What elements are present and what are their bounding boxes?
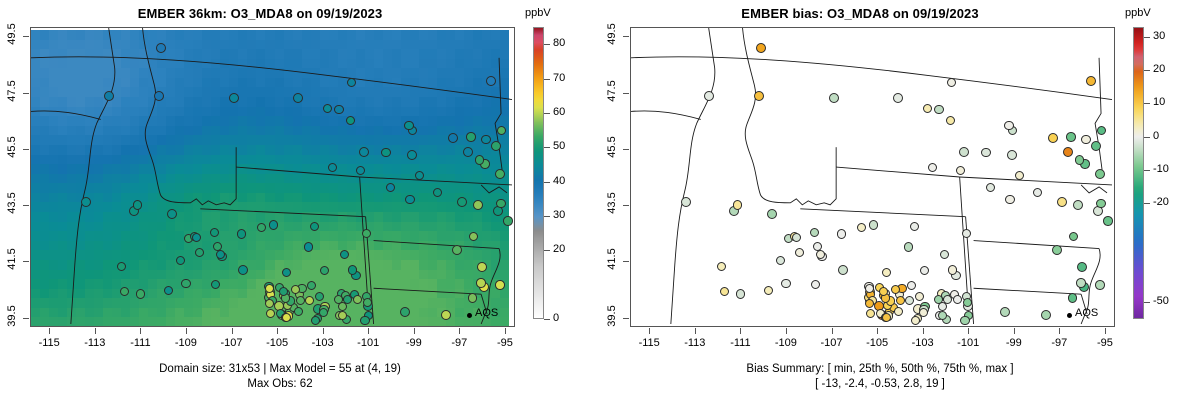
observation-marker xyxy=(229,93,239,103)
colorbar-tick-mark xyxy=(544,79,550,80)
observation-marker xyxy=(293,93,303,103)
observation-marker xyxy=(986,183,995,192)
observation-marker xyxy=(736,289,745,298)
observation-marker xyxy=(441,310,451,320)
observation-marker xyxy=(781,279,790,288)
y-tick-mark xyxy=(23,149,29,150)
observation-marker xyxy=(348,265,357,274)
observation-marker xyxy=(923,104,932,113)
x-tick-label: -113 xyxy=(673,337,717,349)
observation-marker xyxy=(911,316,920,325)
observation-marker xyxy=(934,105,943,114)
aqs-legend-label: AQS xyxy=(1075,307,1098,319)
observation-marker xyxy=(265,299,274,308)
observation-marker xyxy=(981,148,990,157)
observation-marker xyxy=(1073,200,1083,210)
observation-marker xyxy=(338,311,347,320)
x-tick-label: -101 xyxy=(346,337,390,349)
observation-marker xyxy=(940,250,949,259)
observation-marker xyxy=(237,229,246,238)
observation-marker xyxy=(340,250,349,259)
left-caption-line2: Max Obs: 62 xyxy=(0,378,560,390)
observation-marker xyxy=(407,150,417,160)
x-tick-label: -97 xyxy=(1037,337,1081,349)
panel-bias: EMBER bias: O3_MDA8 on 09/19/2023 AQS 39… xyxy=(600,0,1200,409)
observation-marker xyxy=(1097,126,1107,136)
colorbar-tick-mark xyxy=(544,319,550,320)
x-tick-mark xyxy=(923,328,924,334)
observation-marker xyxy=(681,197,691,207)
observation-marker xyxy=(133,200,142,209)
observation-marker xyxy=(282,313,291,322)
observation-marker xyxy=(767,209,777,219)
observation-marker xyxy=(400,307,410,317)
observation-marker xyxy=(865,299,874,308)
observation-marker xyxy=(1069,232,1079,242)
observation-marker xyxy=(829,93,839,103)
observation-points-left xyxy=(31,28,514,326)
observation-marker xyxy=(904,242,913,251)
right-colorbar-gradient xyxy=(1133,27,1144,319)
observation-marker xyxy=(1068,293,1078,303)
colorbar-tick-label: 70 xyxy=(553,72,565,84)
left-map-frame: AQS xyxy=(30,27,515,327)
x-tick-mark xyxy=(414,328,415,334)
colorbar-tick-mark xyxy=(1144,103,1150,104)
observation-marker xyxy=(1015,171,1024,180)
panel-model-concentration: EMBER 36km: O3_MDA8 on 09/19/2023 AQS 39… xyxy=(0,0,600,409)
observation-marker xyxy=(813,242,822,251)
observation-marker xyxy=(269,220,278,229)
x-tick-mark xyxy=(95,328,96,334)
observation-marker xyxy=(304,242,313,251)
x-tick-mark xyxy=(368,328,369,334)
observation-marker xyxy=(457,197,467,207)
observation-marker xyxy=(1007,150,1017,160)
observation-marker xyxy=(1033,188,1042,197)
x-tick-label: -109 xyxy=(164,337,208,349)
right-panel-title: EMBER bias: O3_MDA8 on 09/19/2023 xyxy=(600,6,1120,21)
observation-marker xyxy=(894,307,903,316)
observation-marker xyxy=(811,280,820,289)
observation-marker xyxy=(1052,245,1062,255)
x-tick-mark xyxy=(649,328,650,334)
observation-marker xyxy=(154,91,164,101)
right-map-frame: AQS xyxy=(630,27,1115,327)
observation-marker xyxy=(754,91,764,101)
colorbar-tick-mark xyxy=(1144,70,1150,71)
y-tick-label: 41.5 xyxy=(606,247,618,271)
x-tick-label: -115 xyxy=(627,337,671,349)
observation-marker xyxy=(475,155,485,165)
observation-marker xyxy=(1004,121,1013,130)
x-tick-label: -105 xyxy=(855,337,899,349)
x-tick-mark xyxy=(877,328,878,334)
y-tick-mark xyxy=(623,261,629,262)
observation-marker xyxy=(496,199,506,209)
observation-marker xyxy=(359,147,369,157)
observation-marker xyxy=(1075,155,1085,165)
observation-marker xyxy=(415,171,424,180)
y-tick-mark xyxy=(23,205,29,206)
figure-root: EMBER 36km: O3_MDA8 on 09/19/2023 AQS 39… xyxy=(0,0,1200,409)
x-tick-label: -115 xyxy=(27,337,71,349)
colorbar-tick-mark xyxy=(1144,302,1150,303)
observation-marker xyxy=(167,209,177,219)
colorbar-tick-label: 60 xyxy=(553,106,565,118)
colorbar-tick-mark xyxy=(544,182,550,183)
x-tick-mark xyxy=(786,328,787,334)
observation-marker xyxy=(764,286,773,295)
x-tick-label: -95 xyxy=(1083,337,1127,349)
observation-marker xyxy=(837,229,846,238)
observation-marker xyxy=(210,228,219,237)
observation-marker xyxy=(810,228,819,237)
observation-marker xyxy=(466,132,476,142)
observation-marker xyxy=(956,166,965,175)
observation-marker xyxy=(282,268,291,277)
right-caption-line2: [ -13, -2.4, -0.53, 2.8, 19 ] xyxy=(600,378,1160,390)
observation-marker xyxy=(1063,147,1073,157)
observation-marker xyxy=(481,135,490,144)
colorbar-tick-label: 30 xyxy=(553,209,565,221)
observation-marker xyxy=(776,256,785,265)
colorbar-tick-label: 50 xyxy=(553,140,565,152)
observation-marker xyxy=(486,76,496,86)
y-tick-mark xyxy=(23,318,29,319)
observation-marker xyxy=(720,287,729,296)
observation-marker xyxy=(334,295,343,304)
observation-marker xyxy=(869,220,878,229)
observation-marker xyxy=(81,197,91,207)
observation-marker xyxy=(756,43,766,53)
observation-marker xyxy=(404,121,413,130)
colorbar-tick-mark xyxy=(544,147,550,148)
observation-marker xyxy=(362,229,371,238)
x-tick-mark xyxy=(740,328,741,334)
observation-marker xyxy=(452,245,462,255)
observation-marker xyxy=(1066,132,1076,142)
observation-marker xyxy=(176,256,185,265)
observation-marker xyxy=(946,116,955,125)
observation-marker xyxy=(120,287,129,296)
x-tick-mark xyxy=(1014,328,1015,334)
left-colorbar-title: ppbV xyxy=(525,7,551,19)
observation-marker xyxy=(476,278,486,288)
y-tick-mark xyxy=(23,261,29,262)
colorbar-tick-label: -50 xyxy=(1153,295,1169,307)
observation-marker xyxy=(1103,216,1113,226)
y-tick-mark xyxy=(623,36,629,37)
x-tick-mark xyxy=(186,328,187,334)
x-tick-label: -103 xyxy=(301,337,345,349)
observation-marker xyxy=(928,163,937,172)
x-tick-mark xyxy=(505,328,506,334)
observation-marker xyxy=(882,313,891,322)
bias-points-right xyxy=(631,28,1114,326)
observation-marker xyxy=(156,43,166,53)
x-tick-mark xyxy=(695,328,696,334)
observation-marker xyxy=(717,262,726,271)
observation-marker xyxy=(347,78,356,87)
observation-marker xyxy=(960,316,969,325)
right-colorbar-title: ppbV xyxy=(1125,7,1151,19)
colorbar-tick-label: 20 xyxy=(1153,63,1165,75)
y-tick-mark xyxy=(623,149,629,150)
colorbar-tick-label: -20 xyxy=(1153,196,1169,208)
observation-marker xyxy=(938,311,947,320)
observation-marker xyxy=(495,280,505,290)
observation-marker xyxy=(257,223,266,232)
observation-marker xyxy=(405,195,414,204)
observation-marker xyxy=(947,78,956,87)
observation-marker xyxy=(915,292,924,301)
observation-marker xyxy=(882,268,891,277)
y-tick-label: 47.5 xyxy=(6,79,18,103)
x-tick-label: -99 xyxy=(992,337,1036,349)
y-tick-label: 41.5 xyxy=(6,247,18,271)
observation-marker xyxy=(294,307,303,316)
observation-marker xyxy=(1091,141,1101,151)
x-tick-label: -97 xyxy=(437,337,481,349)
observation-marker xyxy=(136,289,145,298)
observation-marker xyxy=(795,248,804,257)
observation-marker xyxy=(104,91,114,101)
observation-marker xyxy=(953,295,962,304)
observation-marker xyxy=(381,148,390,157)
observation-marker xyxy=(1057,197,1067,207)
y-tick-mark xyxy=(623,318,629,319)
observation-marker xyxy=(497,126,507,136)
y-tick-label: 49.5 xyxy=(606,22,618,46)
x-tick-label: -107 xyxy=(210,337,254,349)
x-tick-mark xyxy=(49,328,50,334)
observation-marker xyxy=(192,233,201,242)
colorbar-tick-label: 10 xyxy=(1153,96,1165,108)
observation-marker xyxy=(1076,278,1086,288)
observation-marker xyxy=(310,222,319,231)
observation-marker xyxy=(838,265,848,275)
y-tick-label: 43.5 xyxy=(606,191,618,215)
x-tick-label: -103 xyxy=(901,337,945,349)
x-tick-mark xyxy=(323,328,324,334)
colorbar-tick-mark xyxy=(1144,203,1150,204)
x-tick-mark xyxy=(459,328,460,334)
observation-marker xyxy=(360,316,369,325)
aqs-legend-dot xyxy=(467,313,472,318)
observation-marker xyxy=(319,308,328,317)
x-tick-mark xyxy=(1105,328,1106,334)
x-tick-mark xyxy=(1059,328,1060,334)
observation-marker xyxy=(463,147,473,157)
observation-marker xyxy=(1005,195,1014,204)
colorbar-tick-label: 0 xyxy=(1153,130,1159,142)
observation-marker xyxy=(195,248,204,257)
x-tick-label: -99 xyxy=(392,337,436,349)
observation-marker xyxy=(307,281,316,290)
observation-marker xyxy=(334,105,343,114)
observation-marker xyxy=(343,295,352,304)
colorbar-tick-mark xyxy=(1144,170,1150,171)
observation-marker xyxy=(311,316,320,325)
observation-marker xyxy=(266,309,275,318)
observation-marker xyxy=(473,200,483,210)
observation-marker xyxy=(1095,169,1105,179)
observation-marker xyxy=(213,242,222,251)
observation-marker xyxy=(857,223,866,232)
x-tick-mark xyxy=(140,328,141,334)
aqs-legend-dot xyxy=(1067,313,1072,318)
observation-marker xyxy=(448,133,458,143)
colorbar-tick-mark xyxy=(544,216,550,217)
observation-marker xyxy=(948,265,957,274)
observation-marker xyxy=(934,295,943,304)
left-caption-line1: Domain size: 31x53 | Max Model = 55 at (… xyxy=(0,363,560,375)
x-tick-mark xyxy=(832,328,833,334)
observation-marker xyxy=(1086,76,1096,86)
x-tick-mark xyxy=(968,328,969,334)
observation-marker xyxy=(468,293,478,303)
observation-marker xyxy=(1077,262,1087,272)
x-tick-label: -111 xyxy=(118,337,162,349)
y-tick-label: 45.5 xyxy=(6,135,18,159)
observation-marker xyxy=(469,232,479,242)
observation-marker xyxy=(893,93,903,103)
colorbar-tick-mark xyxy=(544,250,550,251)
colorbar-tick-mark xyxy=(1144,137,1150,138)
colorbar-tick-label: 40 xyxy=(553,175,565,187)
observation-marker xyxy=(1000,307,1010,317)
observation-marker xyxy=(323,104,332,113)
observation-marker xyxy=(943,295,952,304)
observation-marker xyxy=(1081,135,1090,144)
observation-marker xyxy=(328,163,337,172)
colorbar-tick-mark xyxy=(544,44,550,45)
y-tick-label: 43.5 xyxy=(6,191,18,215)
x-tick-mark xyxy=(232,328,233,334)
observation-marker xyxy=(305,296,314,305)
observation-marker xyxy=(433,188,442,197)
left-colorbar-gradient xyxy=(533,27,544,319)
observation-marker xyxy=(181,279,190,288)
observation-marker xyxy=(353,295,362,304)
x-tick-label: -95 xyxy=(483,337,527,349)
observation-marker xyxy=(495,169,505,179)
colorbar-tick-label: 80 xyxy=(553,37,565,49)
y-tick-label: 45.5 xyxy=(606,135,618,159)
observation-marker xyxy=(919,308,928,317)
y-tick-label: 39.5 xyxy=(606,304,618,328)
colorbar-tick-mark xyxy=(544,113,550,114)
aqs-legend-label: AQS xyxy=(475,307,498,319)
x-tick-label: -105 xyxy=(255,337,299,349)
y-tick-label: 49.5 xyxy=(6,22,18,46)
colorbar-tick-label: 20 xyxy=(553,243,565,255)
observation-marker xyxy=(704,91,714,101)
observation-marker xyxy=(905,296,914,305)
left-panel-title: EMBER 36km: O3_MDA8 on 09/19/2023 xyxy=(0,6,520,21)
y-tick-mark xyxy=(623,205,629,206)
observation-marker xyxy=(1048,133,1058,143)
observation-marker xyxy=(1095,280,1105,290)
colorbar-tick-mark xyxy=(1144,37,1150,38)
x-tick-label: -101 xyxy=(946,337,990,349)
observation-marker xyxy=(1096,199,1106,209)
colorbar-tick-label: 30 xyxy=(1153,30,1165,42)
x-tick-label: -113 xyxy=(73,337,117,349)
observation-marker xyxy=(238,265,248,275)
observation-marker xyxy=(164,286,173,295)
observation-marker xyxy=(910,222,919,231)
y-tick-label: 39.5 xyxy=(6,304,18,328)
x-tick-label: -109 xyxy=(764,337,808,349)
y-tick-mark xyxy=(23,36,29,37)
observation-marker xyxy=(211,280,220,289)
observation-marker xyxy=(346,116,355,125)
observation-marker xyxy=(1041,310,1051,320)
x-tick-label: -107 xyxy=(810,337,854,349)
colorbar-tick-label: -10 xyxy=(1153,163,1169,175)
x-tick-mark xyxy=(277,328,278,334)
observation-marker xyxy=(733,200,742,209)
right-caption-line1: Bias Summary: [ min, 25th %, 50th %, 75t… xyxy=(600,363,1160,375)
observation-marker xyxy=(959,147,969,157)
observation-marker xyxy=(920,266,929,275)
observation-marker xyxy=(320,266,329,275)
observation-marker xyxy=(491,141,501,151)
observation-marker xyxy=(386,183,395,192)
y-tick-label: 47.5 xyxy=(606,79,618,103)
x-tick-label: -111 xyxy=(718,337,762,349)
observation-marker xyxy=(792,233,801,242)
y-tick-mark xyxy=(623,93,629,94)
observation-marker xyxy=(315,292,324,301)
observation-marker xyxy=(477,262,487,272)
y-tick-mark xyxy=(23,93,29,94)
observation-marker xyxy=(503,216,513,226)
colorbar-tick-label: 0 xyxy=(553,312,559,324)
observation-marker xyxy=(356,166,365,175)
observation-marker xyxy=(866,309,875,318)
observation-marker xyxy=(962,229,971,238)
observation-marker xyxy=(117,262,126,271)
observation-marker xyxy=(907,281,916,290)
